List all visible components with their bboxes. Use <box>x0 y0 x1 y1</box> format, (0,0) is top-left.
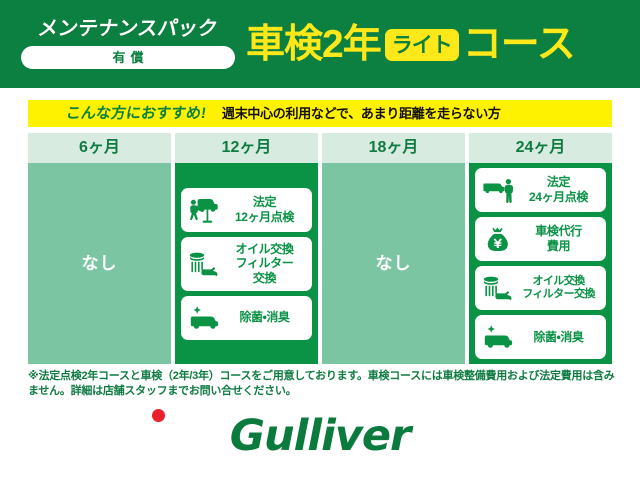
service-item-card: オイル交換フィルター交換 <box>181 237 312 291</box>
headline: 車検2年 ライト コース <box>246 25 640 64</box>
car-sanitize-icon <box>185 303 223 333</box>
oil-filter-change-icon <box>185 249 223 279</box>
service-item-line: 交換 <box>223 271 306 286</box>
service-item-line: 除菌・消臭 <box>223 310 306 325</box>
service-item-line: 車検代行 <box>517 224 600 239</box>
service-item-label: 除菌・消臭 <box>223 310 308 325</box>
service-item-line: 法定 <box>517 175 600 190</box>
brand-block: メンテナンスパック 有償 <box>14 19 242 69</box>
recommendation-detail: 週末中心の利用などで、あまり距離を走らない方 <box>222 107 501 120</box>
service-item-label: オイル交換フィルター交換 <box>223 242 308 286</box>
plan-column-body: 法定24ヶ月点検車検代行費用オイル交換フィルター交換除菌・消臭 <box>469 163 612 364</box>
brand-logo-text: Gulliver <box>230 415 411 458</box>
footnote-text: ※法定点検2年コースと車検（2年/3年）コースをご用意しております。車検コースに… <box>28 369 620 399</box>
light-course-badge-label: ライト <box>392 35 452 56</box>
paid-badge-label: 有償 <box>107 51 148 64</box>
plan-column-header-label: 18ヶ月 <box>369 140 419 156</box>
plan-column-header: 6ヶ月 <box>28 133 171 163</box>
plan-column-header: 24ヶ月 <box>469 133 612 163</box>
plan-table: 6ヶ月12ヶ月18ヶ月24ヶ月なし法定12ヶ月点検オイル交換フィルター交換除菌・… <box>28 133 612 364</box>
recommendation-label: こんな方におすすめ! <box>65 106 207 121</box>
service-item-card: オイル交換フィルター交換 <box>475 266 606 310</box>
plan-column-header-label: 6ヶ月 <box>79 140 120 156</box>
service-item-line: オイル交換 <box>517 275 600 288</box>
service-item-line: フィルター <box>223 256 306 271</box>
service-item-label: 法定12ヶ月点検 <box>223 195 308 224</box>
service-item-card: 除菌・消臭 <box>181 296 312 340</box>
brand-logo: Gulliver <box>0 410 640 462</box>
car-lift-inspection-icon <box>185 195 223 225</box>
service-item-card: 法定12ヶ月点検 <box>181 188 312 232</box>
plan-none-label: なし <box>376 255 412 272</box>
plan-column-header-label: 12ヶ月 <box>222 140 272 156</box>
plan-none-label: なし <box>82 255 118 272</box>
car-inspection-icon <box>479 175 517 205</box>
headline-part2: コース <box>463 25 575 64</box>
oil-filter-change-icon <box>479 273 517 303</box>
service-item-line: 法定 <box>223 195 306 210</box>
plan-column-header-label: 24ヶ月 <box>516 140 566 156</box>
promo-poster: メンテナンスパック 有償 車検2年 ライト コース こんな方におすすめ! 週末中… <box>0 0 640 480</box>
service-item-line: オイル交換 <box>223 242 306 257</box>
service-item-line: 除菌・消臭 <box>517 330 600 345</box>
service-item-line: 費用 <box>517 239 600 254</box>
service-item-card: 除菌・消臭 <box>475 315 606 359</box>
light-course-badge: ライト <box>385 29 459 61</box>
header-band: メンテナンスパック 有償 車検2年 ライト コース <box>0 0 640 88</box>
service-item-card: 法定24ヶ月点検 <box>475 168 606 212</box>
service-item-label: 車検代行費用 <box>517 224 602 253</box>
service-item-line: フィルター交換 <box>517 288 600 301</box>
plan-column-header: 18ヶ月 <box>322 133 465 163</box>
money-bag-yen-icon <box>479 224 517 254</box>
plan-column-body: なし <box>28 163 171 364</box>
service-item-line: 12ヶ月点検 <box>223 210 306 225</box>
plan-column-body: 法定12ヶ月点検オイル交換フィルター交換除菌・消臭 <box>175 163 318 364</box>
plan-column-body: なし <box>322 163 465 364</box>
logo-dot <box>152 409 165 422</box>
brand-title: メンテナンスパック <box>37 19 220 39</box>
paid-badge: 有償 <box>21 46 235 69</box>
car-sanitize-icon <box>479 322 517 352</box>
headline-part1: 車検2年 <box>246 25 381 64</box>
plan-column-header: 12ヶ月 <box>175 133 318 163</box>
service-item-card: 車検代行費用 <box>475 217 606 261</box>
service-item-label: 法定24ヶ月点検 <box>517 175 602 204</box>
service-item-label: オイル交換フィルター交換 <box>517 275 602 302</box>
recommendation-bar: こんな方におすすめ! 週末中心の利用などで、あまり距離を走らない方 <box>28 100 612 127</box>
service-item-line: 24ヶ月点検 <box>517 190 600 205</box>
service-item-label: 除菌・消臭 <box>517 330 602 345</box>
